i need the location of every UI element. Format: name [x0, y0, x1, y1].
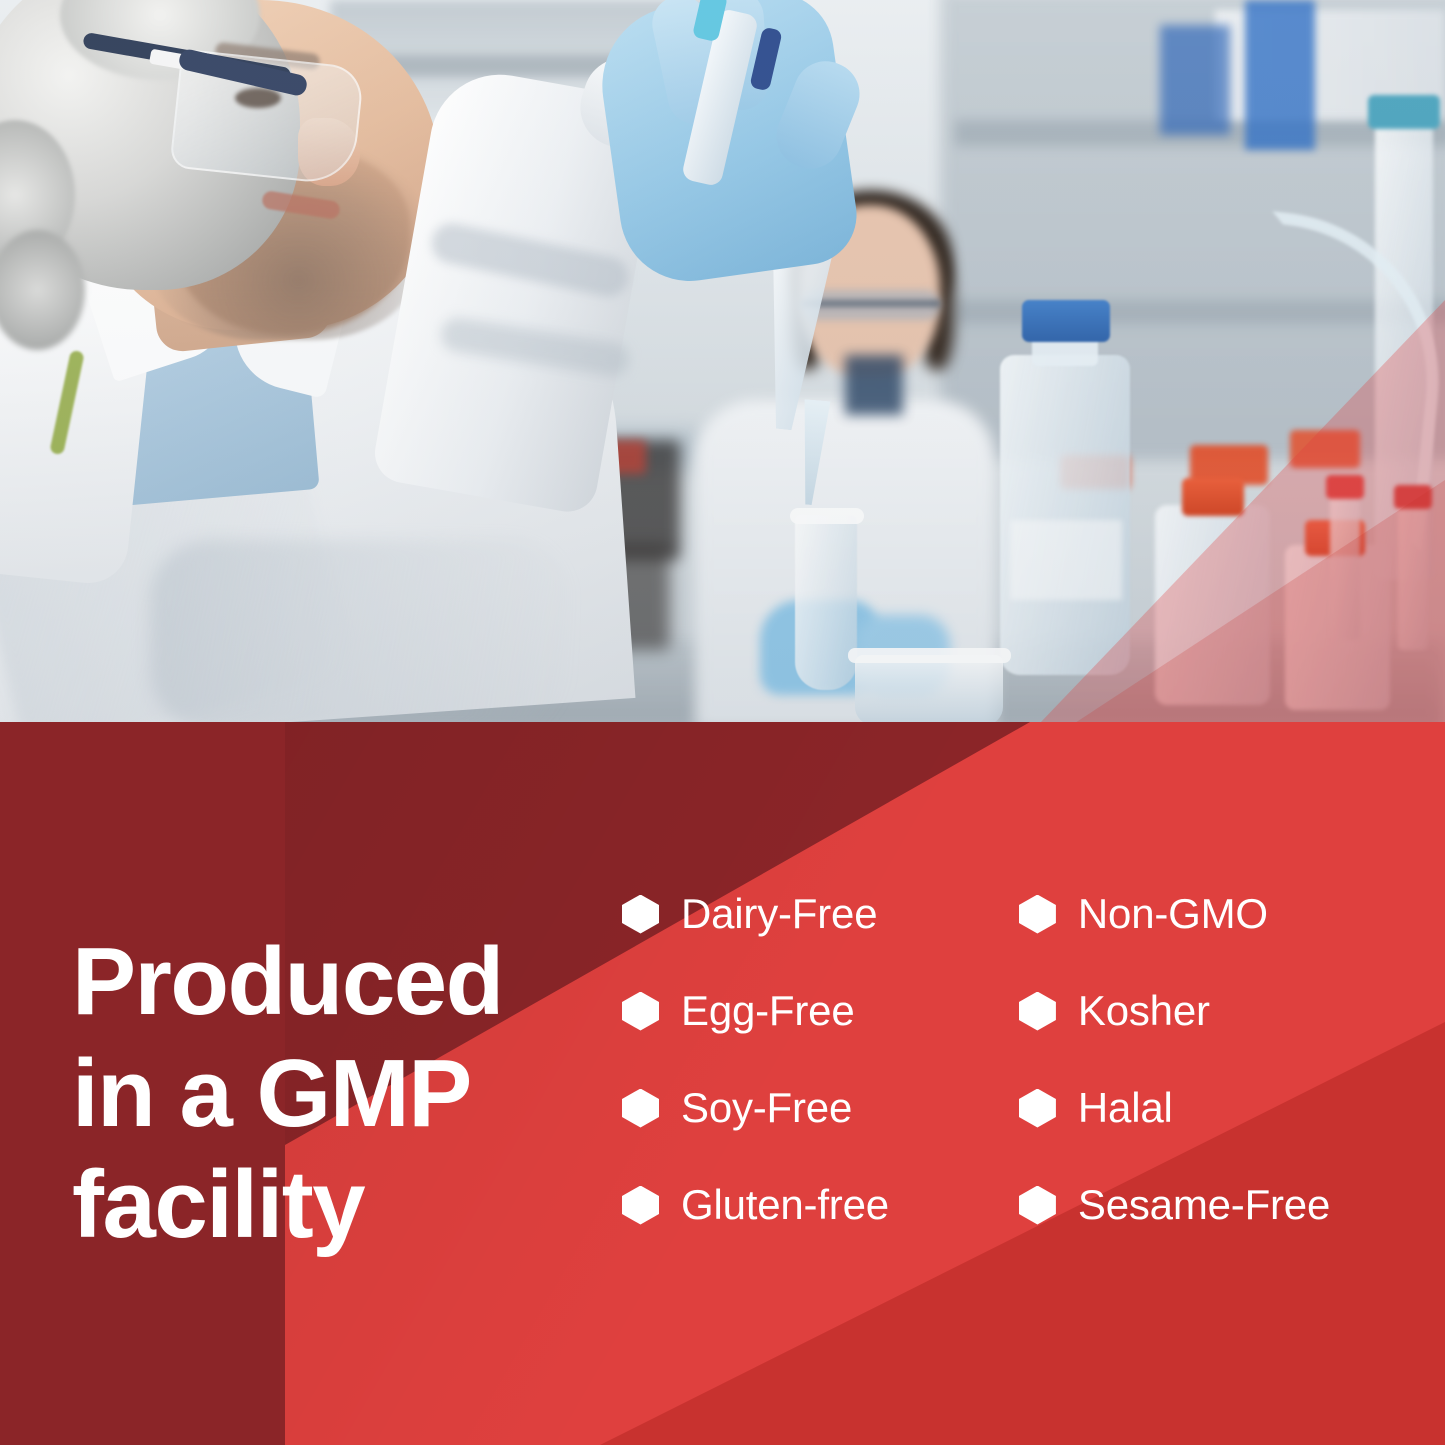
list-item: Egg-Free [622, 991, 889, 1031]
feature-label: Halal [1078, 1087, 1173, 1129]
feature-label: Kosher [1078, 990, 1210, 1032]
feature-label: Egg-Free [681, 990, 854, 1032]
hexagon-bullet-icon [1019, 1089, 1056, 1128]
feature-label: Gluten-free [681, 1184, 889, 1226]
hexagon-bullet-icon [622, 1089, 659, 1128]
page-title-line-2: in a GMP [72, 1038, 592, 1149]
gmp-facility-promo-card: Produced in a GMP facility Dairy-Free Eg… [0, 0, 1445, 1445]
red-content-panel: Produced in a GMP facility Dairy-Free Eg… [0, 722, 1445, 1445]
list-item: Soy-Free [622, 1088, 889, 1128]
feature-label: Sesame-Free [1078, 1184, 1330, 1226]
feature-label: Non-GMO [1078, 893, 1268, 935]
hexagon-bullet-icon [622, 992, 659, 1031]
list-item: Halal [1019, 1088, 1330, 1128]
hexagon-bullet-icon [622, 895, 659, 934]
hexagon-bullet-icon [1019, 992, 1056, 1031]
feature-column-left: Dairy-Free Egg-Free Soy-Free Gluten-free [622, 894, 889, 1225]
list-item: Non-GMO [1019, 894, 1330, 934]
feature-column-right: Non-GMO Kosher Halal Sesame-Free [1019, 894, 1330, 1225]
page-title: Produced in a GMP facility [72, 926, 592, 1260]
page-title-line-1: Produced [72, 926, 592, 1037]
hexagon-bullet-icon [622, 1186, 659, 1225]
list-item: Sesame-Free [1019, 1185, 1330, 1225]
page-title-line-3: facility [72, 1149, 592, 1260]
list-item: Kosher [1019, 991, 1330, 1031]
laboratory-photo [0, 0, 1445, 723]
feature-label: Dairy-Free [681, 893, 877, 935]
list-item: Dairy-Free [622, 894, 889, 934]
hexagon-bullet-icon [1019, 1186, 1056, 1225]
certification-feature-list: Dairy-Free Egg-Free Soy-Free Gluten-free [622, 894, 1330, 1225]
hexagon-bullet-icon [1019, 895, 1056, 934]
list-item: Gluten-free [622, 1185, 889, 1225]
feature-label: Soy-Free [681, 1087, 852, 1129]
